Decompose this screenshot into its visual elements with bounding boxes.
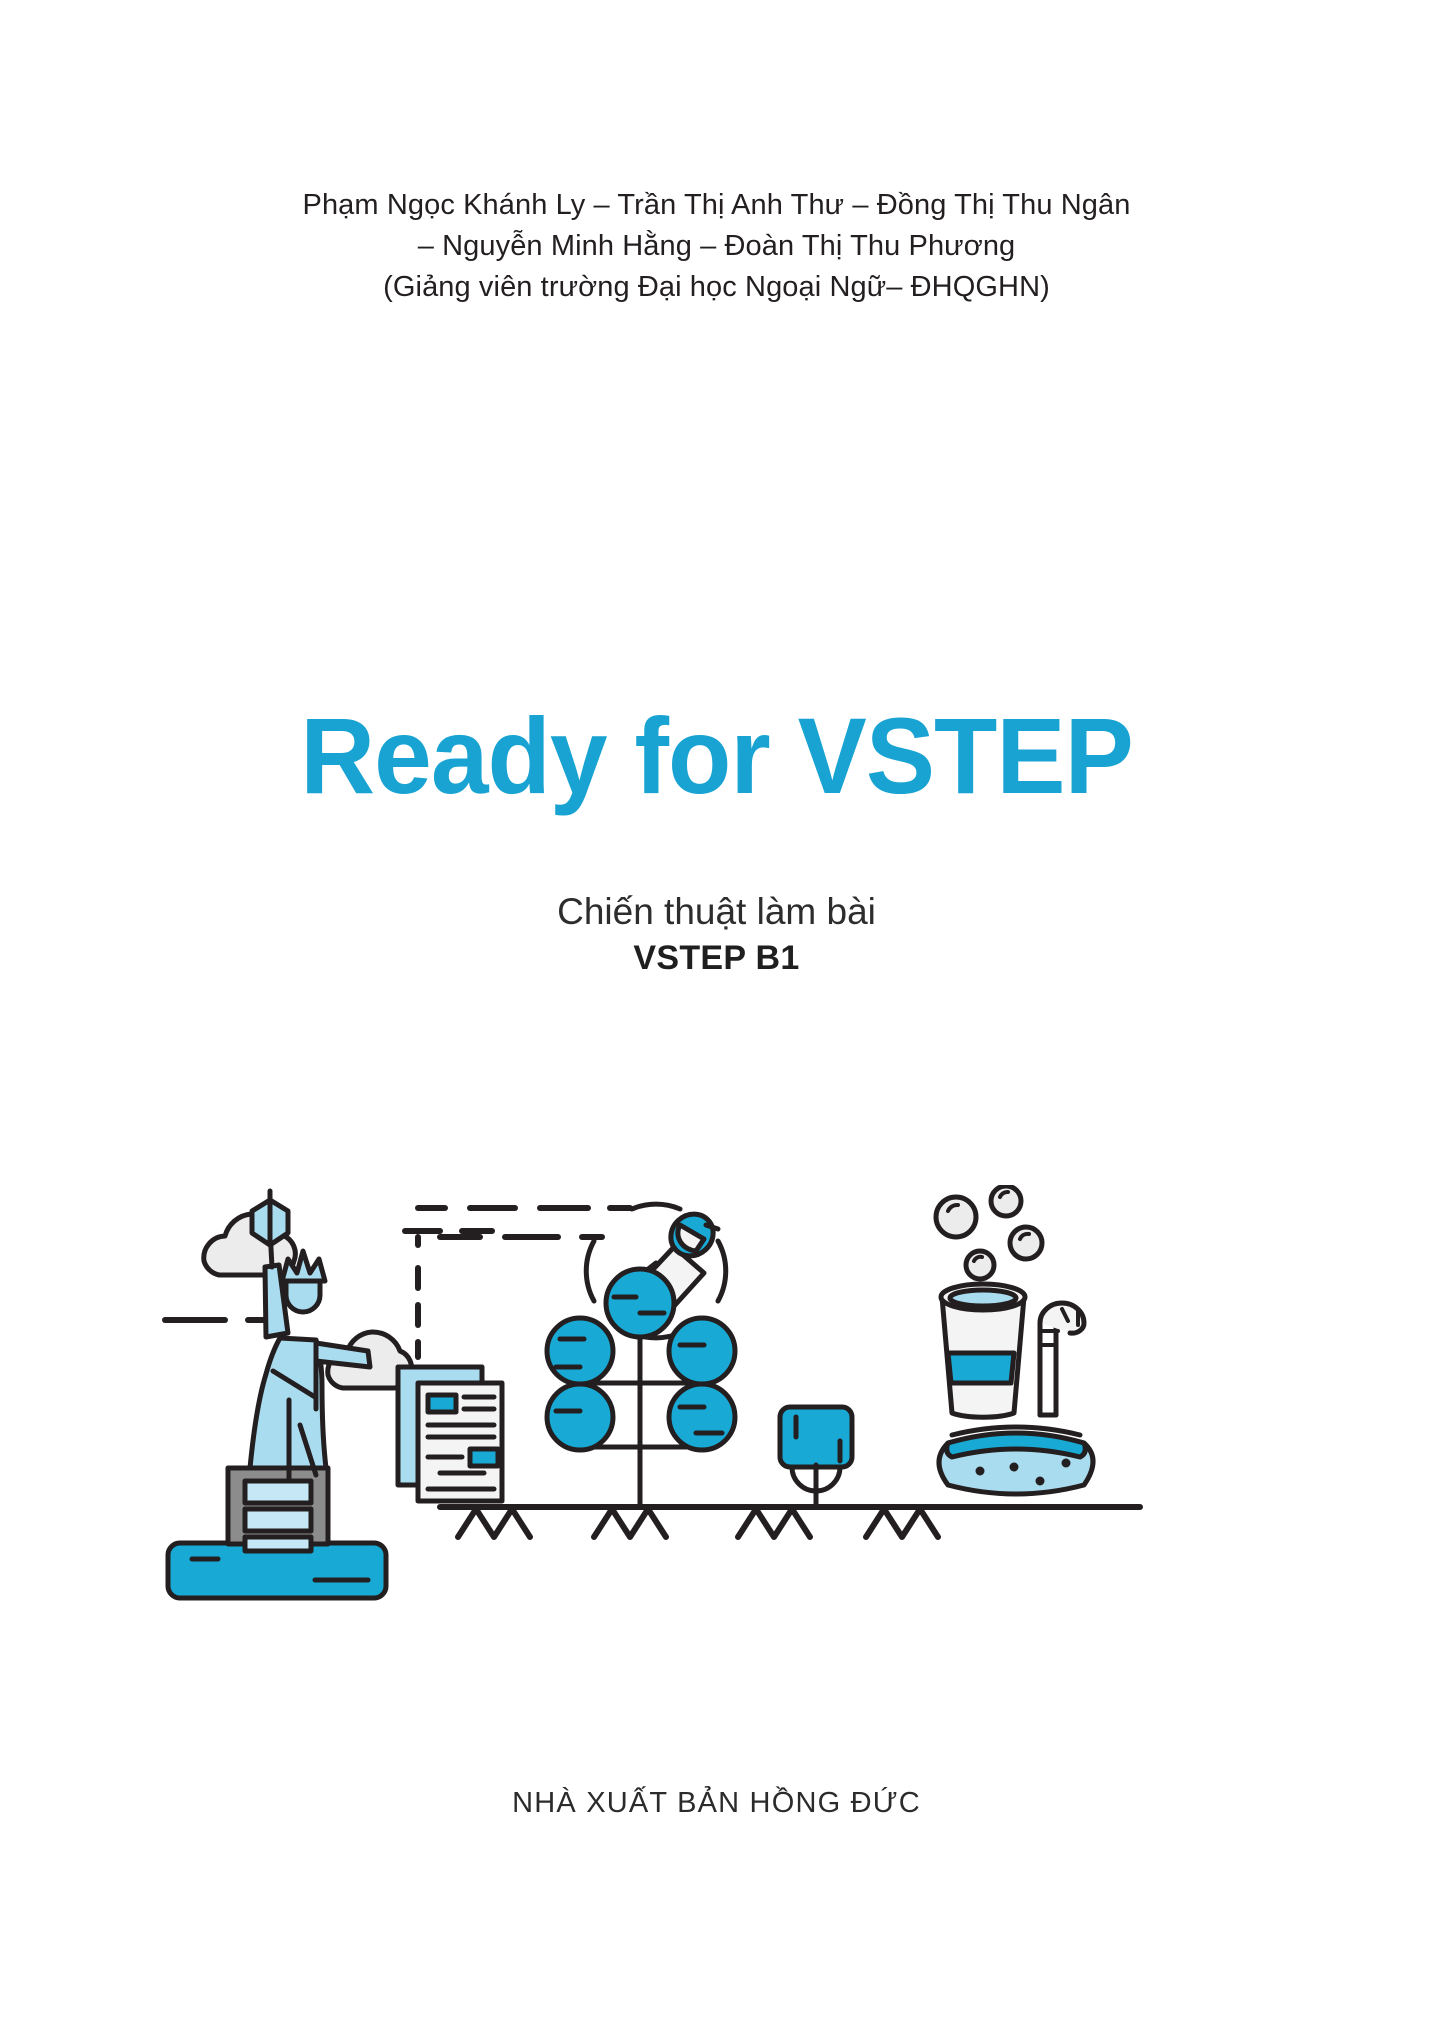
cover-illustration [140,1185,1300,1725]
page-title: Ready for VSTEP [29,700,1405,812]
drink-cup-icon [941,1284,1025,1417]
publisher-block: NHÀ XUẤT BẢN HỒNG ĐỨC [0,1785,1433,1821]
bubbles-icon [936,1186,1042,1279]
hot-dog-icon [939,1427,1093,1494]
title-block: Ready for VSTEP [0,700,1433,812]
book-cover-page: Phạm Ngọc Khánh Ly – Trần Thị Anh Thư – … [0,0,1433,2024]
tree-with-circles-icon [547,1269,735,1507]
straw-icon [1040,1303,1084,1415]
authors-block: Phạm Ngọc Khánh Ly – Trần Thị Anh Thư – … [0,185,1433,308]
subtitle-block: Chiến thuật làm bài VSTEP B1 [0,888,1433,980]
subtitle-line-2: VSTEP B1 [0,936,1433,980]
documents-stack-icon [398,1367,502,1501]
publisher-name: NHÀ XUẤT BẢN HỒNG ĐỨC [0,1785,1433,1821]
shrub-icon [780,1407,852,1507]
authors-line-2: – Nguyễn Minh Hằng – Đoàn Thị Thu Phương [0,226,1433,267]
grass-zigzag-icon [458,1509,938,1537]
authors-line-1: Phạm Ngọc Khánh Ly – Trần Thị Anh Thư – … [0,185,1433,226]
subtitle-line-1: Chiến thuật làm bài [0,888,1433,936]
authors-line-3: (Giảng viên trường Đại học Ngoại Ngữ– ĐH… [0,267,1433,308]
